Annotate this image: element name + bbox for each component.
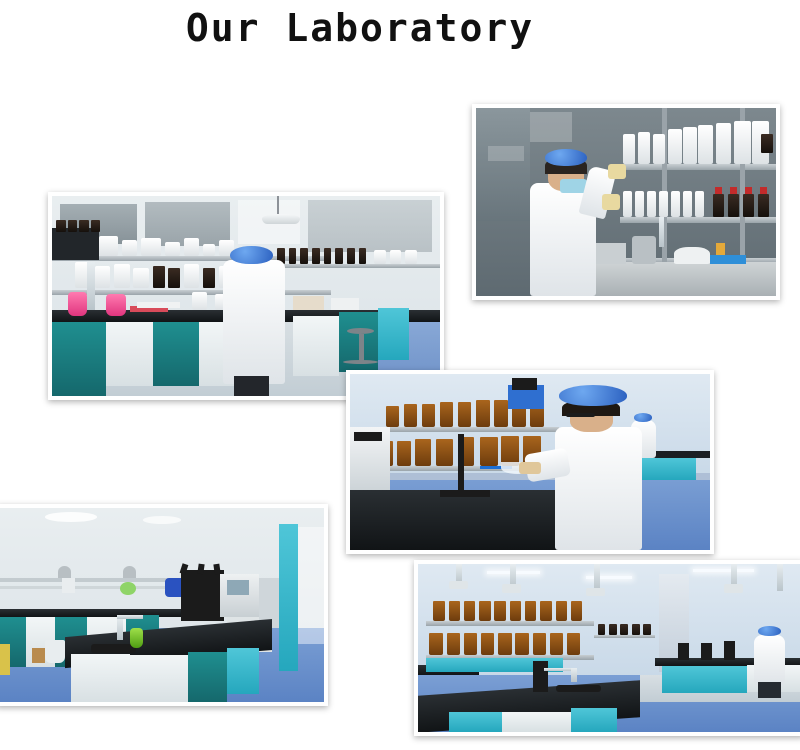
photo-wide-lab-room[interactable] xyxy=(414,560,800,736)
photo-empty-lab-sink[interactable] xyxy=(0,504,328,706)
page-title: Our Laboratory xyxy=(0,6,720,52)
photo-lab-bench-worker-image xyxy=(52,196,440,396)
photo-analyst-microscope-image xyxy=(350,374,710,550)
photo-technician-shelves-image xyxy=(476,108,776,296)
laboratory-gallery-page: Our Laboratory xyxy=(0,0,800,750)
photo-lab-bench-worker[interactable] xyxy=(48,192,444,400)
photo-analyst-microscope[interactable] xyxy=(346,370,714,554)
photo-empty-lab-sink-image xyxy=(0,508,324,702)
photo-technician-shelves[interactable] xyxy=(472,104,780,300)
photo-wide-lab-room-image xyxy=(418,564,800,732)
